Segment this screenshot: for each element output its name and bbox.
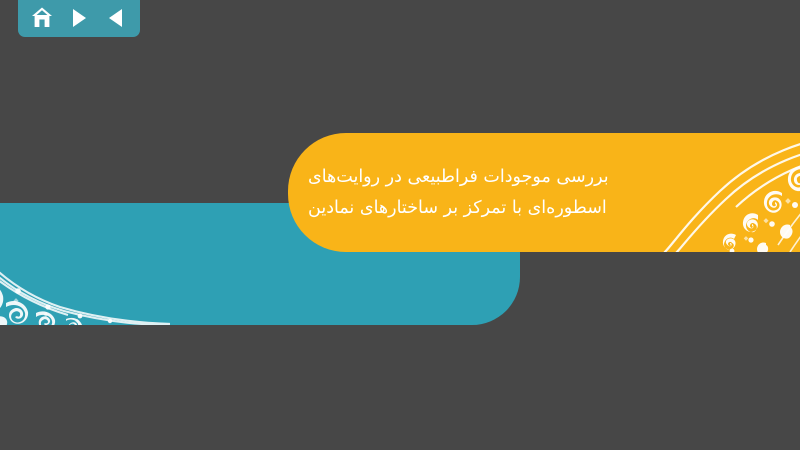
home-button[interactable] bbox=[28, 4, 55, 32]
slide-canvas: بررسی موجودات فراطبیعی در روایت‌های اسطو… bbox=[0, 0, 800, 450]
teal-arabesque-ornament-icon bbox=[0, 203, 170, 325]
forward-button[interactable] bbox=[65, 4, 92, 32]
back-button[interactable] bbox=[103, 4, 130, 32]
title-line-2: اسطوره‌ای با تمرکز بر ساختارهای نمادین bbox=[308, 193, 607, 224]
back-triangle-icon bbox=[107, 8, 125, 28]
navigation-bar bbox=[18, 0, 140, 37]
forward-triangle-icon bbox=[70, 8, 88, 28]
title-line-1: بررسی موجودات فراطبیعی در روایت‌های bbox=[308, 162, 609, 193]
home-icon bbox=[31, 7, 53, 28]
slide-title: بررسی موجودات فراطبیعی در روایت‌های اسطو… bbox=[300, 133, 680, 252]
